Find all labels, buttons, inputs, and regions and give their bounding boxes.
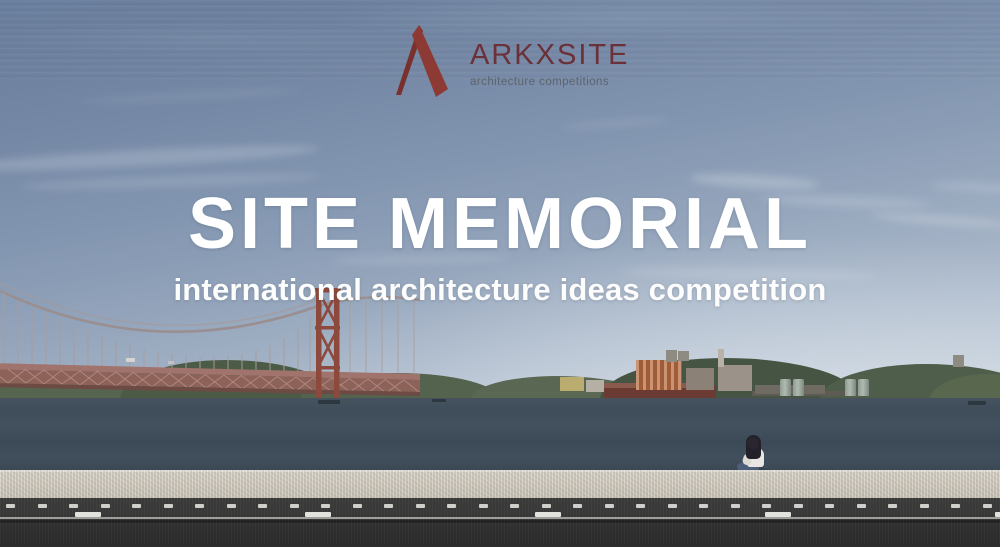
headline-block: SITE MEMORIAL international architecture…	[0, 188, 1000, 305]
road-stud	[573, 504, 582, 508]
shore-building	[560, 377, 584, 391]
ridge-tower	[666, 350, 677, 362]
road-stud	[510, 504, 519, 508]
storage-silo	[793, 379, 804, 396]
road-stud	[888, 504, 897, 508]
figure-head	[747, 437, 759, 449]
ridge-tower	[678, 351, 689, 361]
port-building	[686, 368, 714, 390]
port-building	[718, 365, 752, 391]
road-stud	[951, 504, 960, 508]
storage-silo	[845, 379, 856, 396]
road-stud	[794, 504, 803, 508]
brand-tagline: architecture competitions	[470, 77, 629, 89]
smokestack	[718, 349, 724, 367]
seated-person	[737, 435, 781, 473]
road-stud	[227, 504, 236, 508]
distant-boat	[968, 401, 986, 405]
road-stud	[825, 504, 834, 508]
brand-name: ARKXSITE	[470, 41, 629, 70]
road-stud	[101, 504, 110, 508]
storage-silo	[780, 379, 791, 396]
road-stud	[447, 504, 456, 508]
road-stud	[668, 504, 677, 508]
road-seam	[0, 520, 1000, 523]
road-stud	[983, 504, 992, 508]
road-stud	[69, 504, 78, 508]
road-stud	[258, 504, 267, 508]
road-stud	[636, 504, 645, 508]
road-stud	[605, 504, 614, 508]
distant-boat	[318, 400, 340, 404]
arkxsite-a-mark-icon	[392, 23, 456, 103]
arkxsite-logo[interactable]: ARKXSITE architecture competitions	[392, 22, 624, 104]
road-stud	[290, 504, 299, 508]
shore-building	[586, 380, 604, 392]
poster-canvas: ARKXSITE architecture competitions SITE …	[0, 0, 1000, 547]
competition-subtitle: international architecture ideas competi…	[0, 274, 1000, 305]
road-edge-line	[0, 517, 1000, 519]
road-studs	[0, 504, 1000, 510]
road-stud	[132, 504, 141, 508]
ridge-tower	[953, 355, 964, 367]
competition-title: SITE MEMORIAL	[0, 188, 1000, 260]
road-stud	[38, 504, 47, 508]
river-water	[0, 398, 1000, 478]
warehouse-ribbing	[636, 360, 682, 390]
road-stud	[353, 504, 362, 508]
road-stud	[699, 504, 708, 508]
storage-silo	[858, 379, 869, 396]
road-stud	[195, 504, 204, 508]
quay-texture	[0, 470, 1000, 498]
road-stud	[479, 504, 488, 508]
road-stud	[164, 504, 173, 508]
road-stud	[321, 504, 330, 508]
road-stud	[857, 504, 866, 508]
road-stud	[762, 504, 771, 508]
road-stud	[384, 504, 393, 508]
road-stud	[6, 504, 15, 508]
road-stud	[542, 504, 551, 508]
asphalt-road	[0, 498, 1000, 547]
stone-promenade	[0, 470, 1000, 498]
road-stud	[416, 504, 425, 508]
road-stud	[731, 504, 740, 508]
distant-boat	[432, 399, 446, 402]
logo-wordmark: ARKXSITE architecture competitions	[470, 37, 629, 89]
road-stud	[920, 504, 929, 508]
